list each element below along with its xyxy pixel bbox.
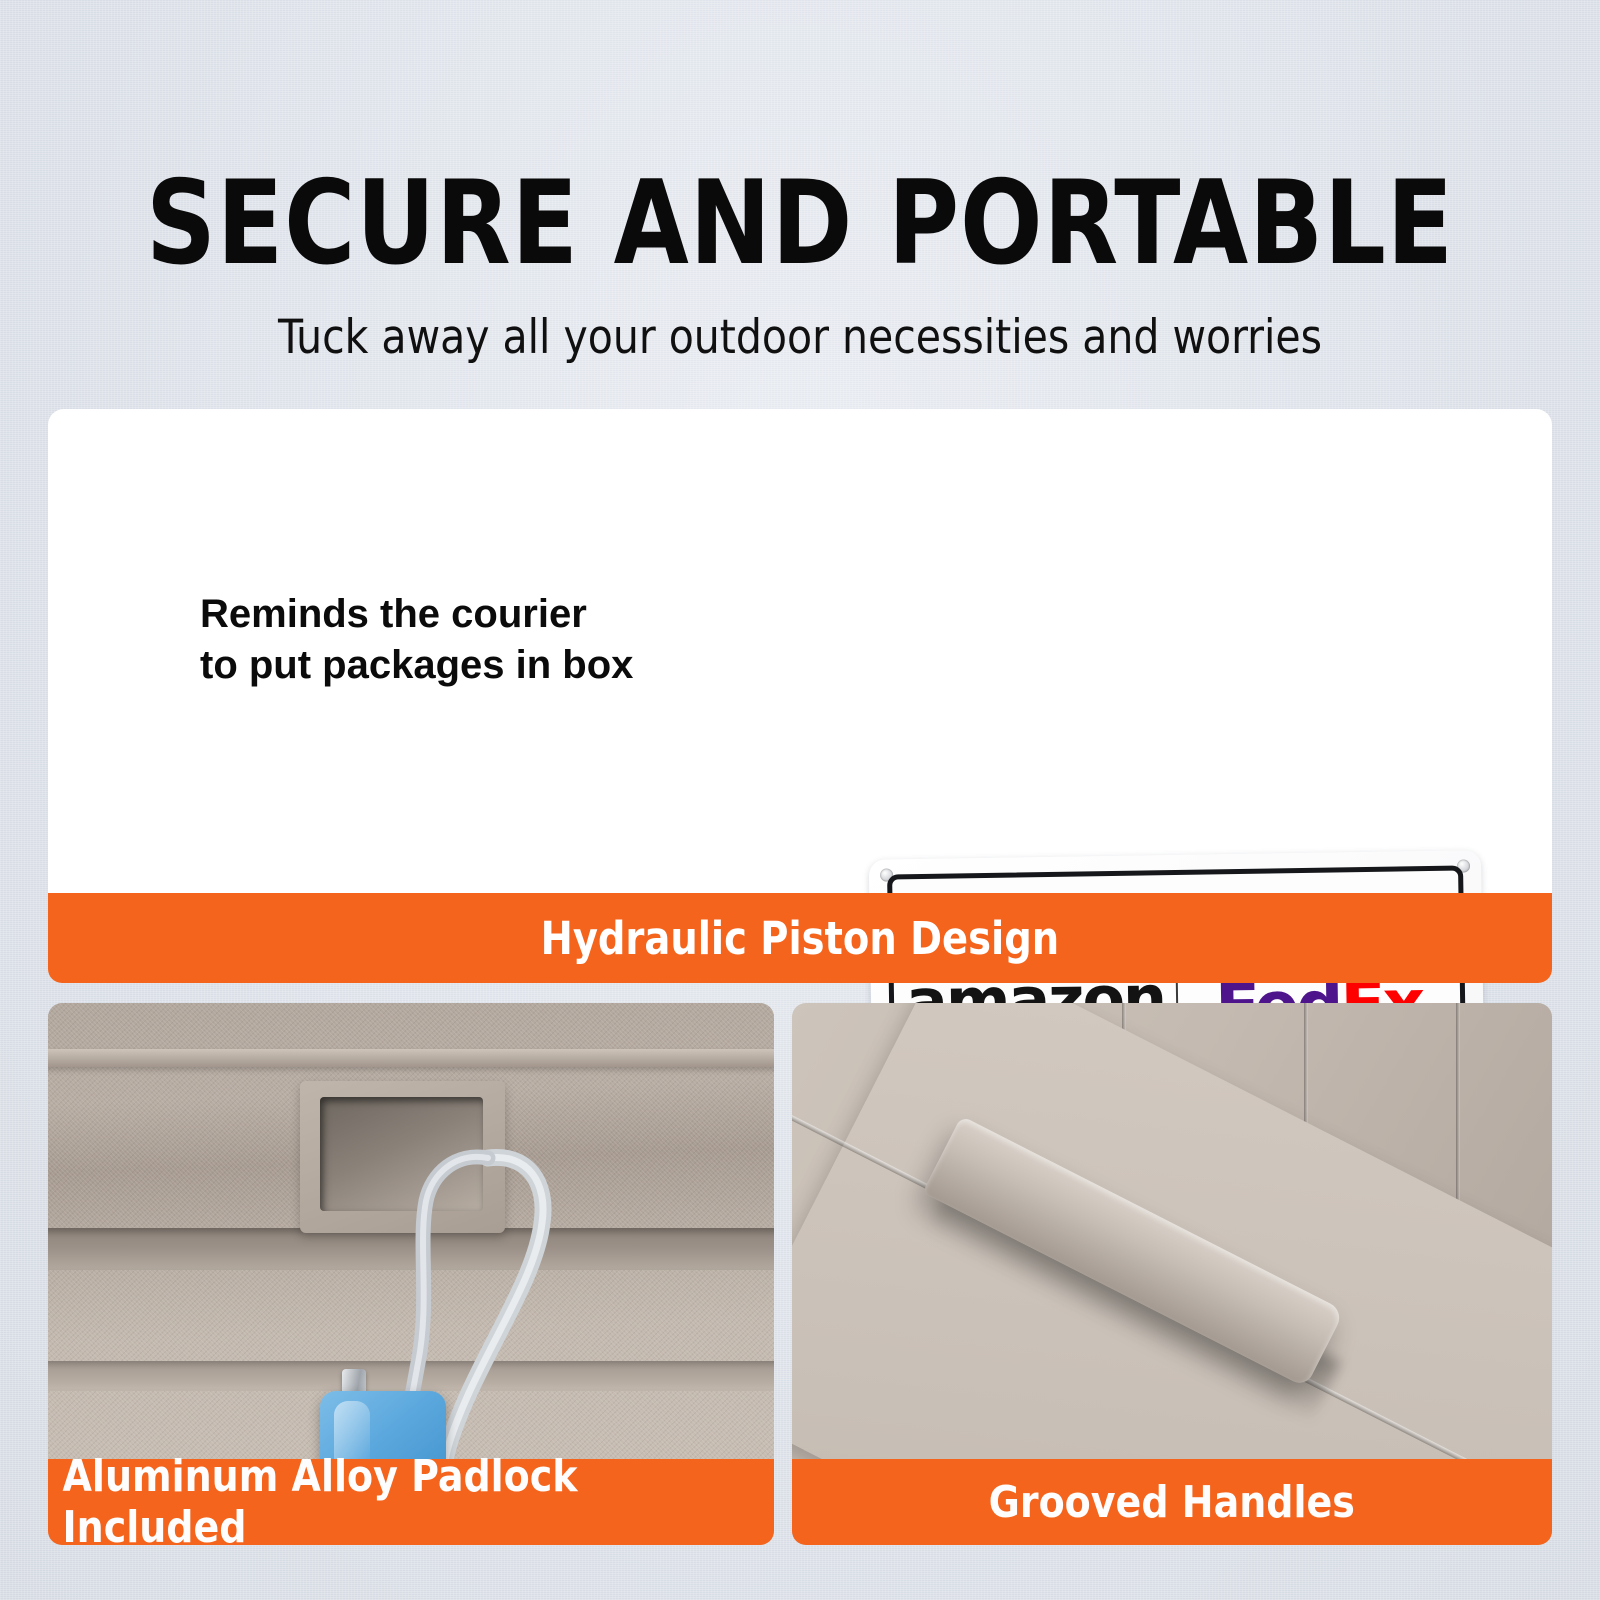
tile-handles-caption-label: Grooved Handles xyxy=(989,1477,1355,1528)
main-banner: Hydraulic Piston Design xyxy=(48,893,1552,983)
page-subheadline: Tuck away all your outdoor necessities a… xyxy=(24,310,1576,365)
feature-card-text-line-1: Reminds the courier xyxy=(200,589,633,640)
feature-card: Reminds the courier to put packages in b… xyxy=(48,409,1552,893)
feature-card-text-line-2: to put packages in box xyxy=(200,640,633,691)
feature-card-text: Reminds the courier to put packages in b… xyxy=(200,589,633,691)
tile-padlock-caption-label: Aluminum Alloy Padlock Included xyxy=(63,1451,760,1545)
main-banner-label: Hydraulic Piston Design xyxy=(541,912,1059,965)
tile-padlock: Aluminum Alloy Padlock Included xyxy=(48,1003,774,1545)
tile-handles-caption: Grooved Handles xyxy=(792,1459,1552,1545)
tile-padlock-caption: Aluminum Alloy Padlock Included xyxy=(48,1459,774,1545)
page-headline: SECURE AND PORTABLE xyxy=(56,166,1544,282)
tile-handles: Grooved Handles xyxy=(792,1003,1552,1545)
